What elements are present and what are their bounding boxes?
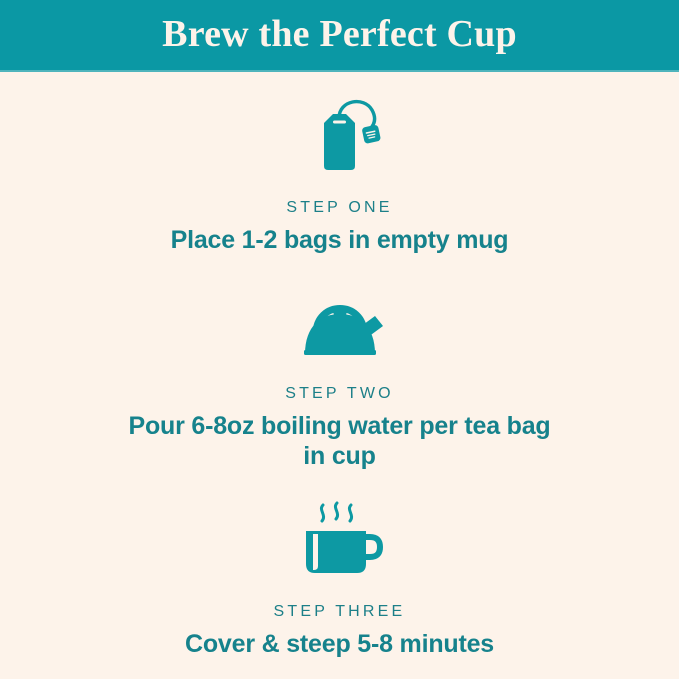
step-one-label: STEP ONE	[286, 199, 392, 217]
step-one-text: Place 1-2 bags in empty mug	[171, 225, 509, 256]
brew-instructions-page: Brew the Perfect Cup	[0, 0, 679, 679]
step-two-text: Pour 6-8oz boiling water per tea bag in …	[125, 411, 555, 472]
header-banner: Brew the Perfect Cup	[0, 0, 679, 72]
page-title: Brew the Perfect Cup	[162, 15, 517, 56]
steps-list: STEP ONE Place 1-2 bags in empty mug	[0, 94, 679, 659]
kettle-icon	[280, 290, 400, 367]
step-two-label: STEP TWO	[285, 385, 394, 403]
step-three-label: STEP THREE	[274, 603, 406, 621]
step-item-two: STEP TWO Pour 6-8oz boiling water per te…	[0, 290, 679, 472]
tea-bag-icon	[280, 94, 400, 181]
step-item-three: STEP THREE Cover & steep 5-8 minutes	[0, 500, 679, 660]
step-item-one: STEP ONE Place 1-2 bags in empty mug	[0, 94, 679, 256]
steaming-mug-icon	[280, 500, 400, 585]
step-three-text: Cover & steep 5-8 minutes	[185, 629, 494, 660]
